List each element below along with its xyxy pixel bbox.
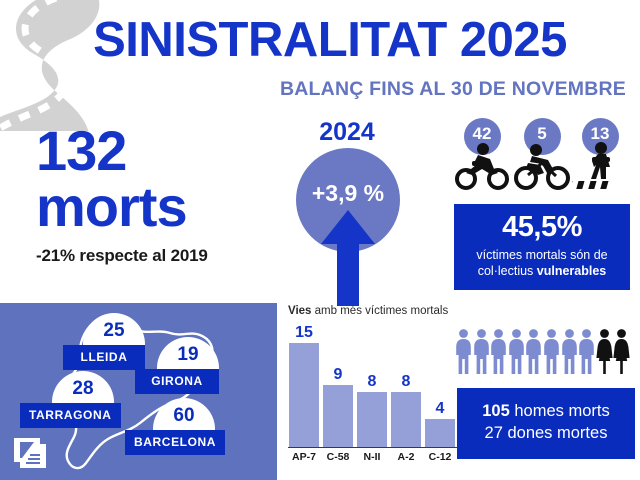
bar-column-c12: 4 [425, 401, 455, 447]
deaths-summary: 132 morts -21% respecte al 2019 [36, 124, 281, 266]
province-dome: 28 [52, 371, 114, 403]
bicycle-icon [514, 141, 570, 191]
bar-rect-ap7 [289, 343, 319, 447]
motorcycle-icon [454, 141, 510, 191]
deaths-comparison: -21% respecte al 2019 [36, 246, 281, 266]
deaths-count: 132 [36, 124, 281, 178]
generalitat-logo [10, 432, 50, 472]
lleida-label: LLEIDA [63, 345, 145, 370]
x-label-c12: C-12 [425, 451, 455, 463]
person-male-icon [543, 328, 560, 374]
vulnerable-users-block: 42 5 [452, 118, 630, 208]
bar-rect-c58 [323, 385, 353, 447]
men-deaths-line: 105 homes morts [457, 401, 635, 423]
person-female-icon [613, 328, 630, 374]
men-deaths-label: homes morts [510, 402, 610, 420]
bar-value-ap7: 15 [289, 325, 319, 341]
person-male-icon [525, 328, 542, 374]
page-title: SINISTRALITAT 2025 [30, 16, 630, 65]
bar-value-a2: 8 [391, 374, 421, 390]
gender-banner: 105 homes morts 27 dones mortes [457, 388, 635, 459]
province-marker-girona: 19 GIRONA [135, 337, 219, 394]
province-marker-tarragona: 28 TARRAGONA [20, 371, 121, 428]
infographic-root: SINISTRALITAT 2025 BALANÇ FINS AL 30 DE … [0, 0, 640, 480]
x-label-nii: N-II [357, 451, 387, 463]
girona-count: 19 [157, 344, 219, 366]
chart-title: Vies amb més víctimes mortals [288, 305, 460, 317]
bar-value-c58: 9 [323, 367, 353, 383]
arrow-up-icon [321, 210, 375, 306]
chart-x-axis-labels: AP-7 C-58 N-II A-2 C-12 [288, 451, 460, 469]
barcelona-label: BARCELONA [125, 430, 225, 455]
bar-column-ap7: 15 [289, 325, 319, 447]
bar-column-c58: 9 [323, 367, 353, 447]
x-label-ap7: AP-7 [289, 451, 319, 463]
trend-comparison: 2024 +3,9 % [282, 118, 412, 293]
x-label-a2: A-2 [391, 451, 421, 463]
pedestrian-deaths-count: 13 [572, 124, 628, 144]
vulnerable-percent-banner: 45,5% víctimes mortals són de col·lectiu… [454, 204, 630, 290]
bicycle-deaths-count: 5 [514, 124, 570, 144]
pedestrian-icon [572, 141, 628, 191]
vulnerable-percent: 45,5% [454, 213, 630, 242]
person-male-icon [455, 328, 472, 374]
people-pictogram [455, 326, 635, 376]
bar-rect-c12 [425, 419, 455, 447]
x-label-c58: C-58 [323, 451, 353, 463]
person-male-icon [561, 328, 578, 374]
tarragona-count: 28 [52, 378, 114, 400]
women-deaths-line: 27 dones mortes [457, 423, 635, 445]
person-male-icon [578, 328, 595, 374]
bar-rect-a2 [391, 392, 421, 447]
men-deaths-count: 105 [482, 402, 510, 420]
bar-value-nii: 8 [357, 374, 387, 390]
trend-percent: +3,9 % [296, 180, 400, 207]
province-marker-barcelona: 60 BARCELONA [125, 398, 225, 455]
person-female-icon [596, 328, 613, 374]
person-male-icon [490, 328, 507, 374]
vulnerable-description: víctimes mortals són de col·lectius vuln… [454, 247, 630, 279]
map-panel: 25 LLEIDA 19 GIRONA 28 TARRAGONA 60 BARC… [0, 303, 277, 480]
province-marker-lleida: 25 LLEIDA [63, 313, 145, 370]
bar-value-c12: 4 [425, 401, 455, 417]
chart-title-bold: Vies [288, 305, 311, 317]
roads-bar-chart: Vies amb més víctimes mortals 15 9 8 8 4 [288, 305, 460, 473]
person-male-icon [508, 328, 525, 374]
chart-plot-area: 15 9 8 8 4 [288, 321, 460, 448]
person-male-icon [473, 328, 490, 374]
vulnerable-icon-row: 42 5 [452, 118, 630, 208]
bar-column-nii: 8 [357, 374, 387, 447]
women-deaths-label: dones mortes [503, 424, 608, 442]
tarragona-label: TARRAGONA [20, 403, 121, 428]
province-dome: 19 [157, 337, 219, 369]
trend-year-label: 2024 [282, 118, 412, 147]
girona-label: GIRONA [135, 369, 219, 394]
barcelona-count: 60 [153, 405, 215, 427]
motorcycle-deaths-count: 42 [454, 124, 510, 144]
bar-rect-nii [357, 392, 387, 447]
women-deaths-count: 27 [485, 424, 503, 442]
vulnerable-description-bold: vulnerables [537, 264, 606, 278]
header: SINISTRALITAT 2025 BALANÇ FINS AL 30 DE … [0, 0, 640, 112]
gender-breakdown: 105 homes morts 27 dones mortes [455, 326, 635, 376]
bar-column-a2: 8 [391, 374, 421, 447]
page-subtitle: BALANÇ FINS AL 30 DE NOVEMBRE [280, 78, 626, 101]
deaths-word: morts [36, 178, 281, 235]
province-dome: 60 [153, 398, 215, 430]
chart-title-rest: amb més víctimes mortals [311, 305, 448, 317]
